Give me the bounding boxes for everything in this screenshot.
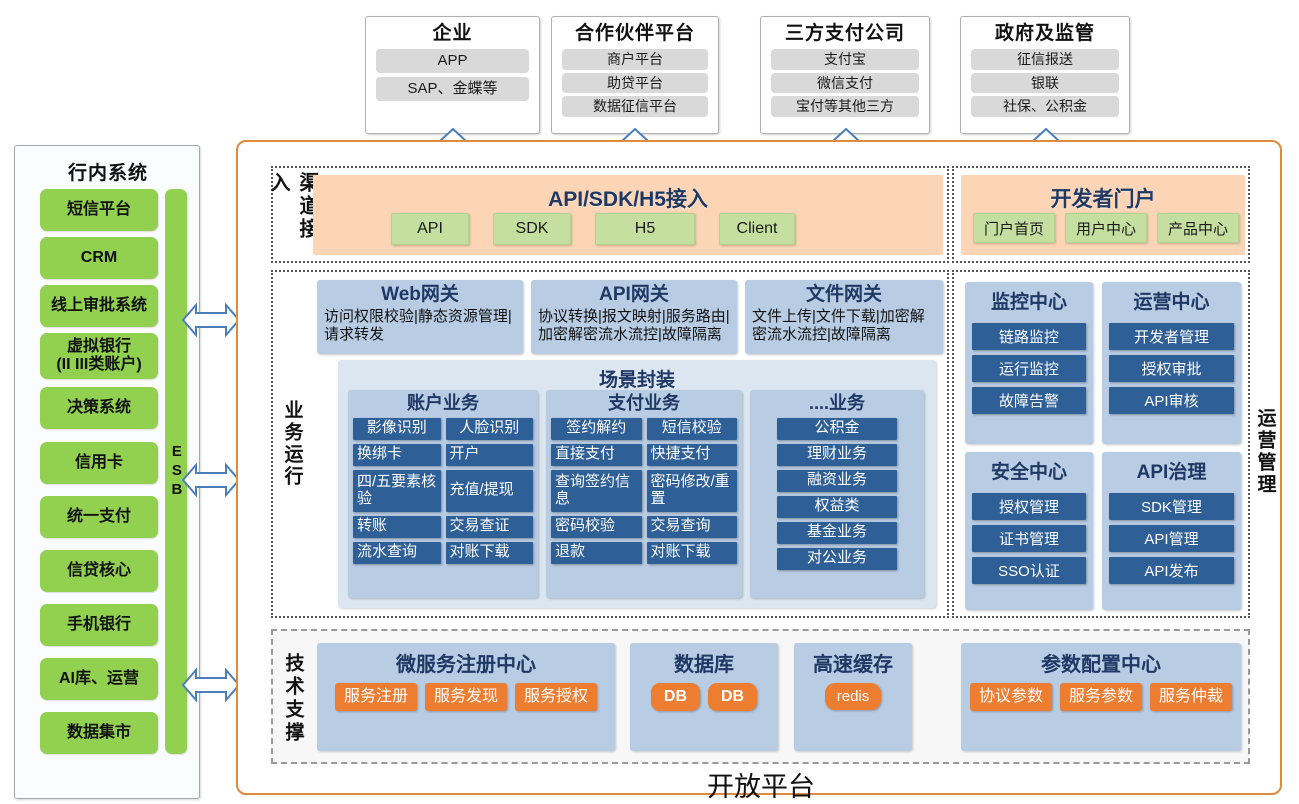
channel-chip-sdk[interactable]: SDK [493, 213, 571, 245]
bank-system-item-credit-card[interactable]: 信用卡 [40, 442, 158, 484]
business-group-title: ....业务 [755, 393, 919, 415]
business-chip-label: 交易查证 [450, 518, 510, 535]
tech-card-microservice-registry: 微服务注册中心 服务注册 服务发现 服务授权 [317, 643, 615, 751]
double-arrow-horizontal-bottom [182, 665, 240, 705]
tech-card-title: 微服务注册中心 [396, 648, 536, 677]
portal-chip-label: 用户中心 [1076, 218, 1136, 239]
bank-system-label: 线上审批系统 [51, 297, 147, 315]
business-chip-label: 密码校验 [555, 518, 615, 535]
business-chip[interactable]: 快捷支付 [647, 444, 738, 466]
gateway-card-api: API网关 协议转换|报文映射|服务路由|加密解密流水流控|故障隔离 [531, 280, 737, 354]
tech-chip[interactable]: 服务授权 [515, 683, 597, 711]
external-party-item: 社保、公积金 [971, 96, 1119, 117]
tech-card-title: 参数配置中心 [1041, 648, 1161, 677]
business-group-payment: 支付业务 签约解约 直接支付 查询签约信息 密码校验 退款 短信校验 快捷支付 [546, 390, 742, 598]
gateway-title: API网关 [538, 284, 730, 306]
tech-support-label: 技术支撑 [277, 641, 309, 756]
ops-card-security-center: 安全中心 授权管理 证书管理 SSO认证 [965, 452, 1093, 610]
business-chip[interactable]: 交易查证 [446, 516, 534, 538]
external-party-title: 三方支付公司 [771, 23, 919, 45]
business-chip[interactable]: 短信校验 [647, 418, 738, 440]
tech-chip-row: 协议参数 服务参数 服务仲裁 [970, 683, 1232, 711]
business-chip[interactable]: 交易查询 [647, 516, 738, 538]
bank-system-label: 虚拟银行 (II III类账户) [56, 338, 141, 373]
open-platform-container: 渠道接入 API/SDK/H5接入 API SDK H5 Client [236, 140, 1282, 795]
business-chip[interactable]: 签约解约 [551, 418, 642, 440]
bank-system-item-credit-core[interactable]: 信贷核心 [40, 550, 158, 592]
business-chip[interactable]: 基金业务 [777, 522, 897, 544]
business-chip-label: 退款 [555, 544, 585, 561]
ops-card-title: 运营中心 [1133, 287, 1209, 314]
bank-system-label: 信用卡 [75, 454, 123, 472]
external-party-item: 银联 [971, 73, 1119, 94]
ops-chip[interactable]: SDK管理 [1109, 493, 1234, 520]
gateway-card-file: 文件网关 文件上传|文件下载|加密解密流水流控|故障隔离 [745, 280, 943, 354]
business-group-title: 支付业务 [551, 393, 737, 415]
ops-chip[interactable]: 授权管理 [972, 493, 1086, 520]
bank-system-label: 统一支付 [67, 508, 131, 526]
bank-systems-panel: 行内系统 短信平台 CRM 线上审批系统 虚拟银行 (II III类账户) 决策… [14, 145, 200, 799]
channel-chip-client[interactable]: Client [719, 213, 795, 245]
api-sdk-h5-access-panel: API/SDK/H5接入 API SDK H5 Client [313, 175, 943, 255]
bank-systems-title: 行内系统 [15, 158, 201, 185]
channel-chip-api[interactable]: API [391, 213, 469, 245]
diagram-canvas: 企业 APP SAP、金蝶等 合作伙伴平台 商户平台 助贷平台 数据征信平台 三… [0, 0, 1299, 799]
business-chip-label: 对公业务 [807, 550, 867, 567]
external-party-item: 数据征信平台 [562, 96, 708, 117]
bank-system-item-unified-payment[interactable]: 统一支付 [40, 496, 158, 538]
external-party-item: 征信报送 [971, 49, 1119, 70]
bank-system-label: AI库、运营 [59, 670, 139, 688]
bank-system-label: 短信平台 [67, 201, 131, 219]
business-chip-label: 权益类 [814, 498, 859, 515]
ops-chip[interactable]: API审核 [1109, 387, 1234, 414]
portal-chip-label: 产品中心 [1168, 218, 1228, 239]
ops-chip[interactable]: 证书管理 [972, 525, 1086, 552]
gateway-description: 访问权限校验|静态资源管理|请求转发 [324, 308, 516, 344]
external-party-item: 商户平台 [562, 49, 708, 70]
business-group-account: 账户业务 影像识别 换绑卡 四/五要素核验 转账 流水查询 人脸识别 开户 [348, 390, 538, 598]
business-chip-label: 影像识别 [367, 420, 427, 437]
business-group-other: ....业务 公积金 理财业务 融资业务 权益类 基金业务 对公业务 [750, 390, 924, 598]
tech-chip-row: redis [825, 683, 882, 710]
business-chip-label: 交易查询 [651, 518, 711, 535]
ops-card-title: 监控中心 [991, 287, 1067, 314]
business-chip-label: 充值/提现 [450, 482, 514, 499]
double-arrow-horizontal-top [182, 300, 240, 340]
ops-chip[interactable]: 故障告警 [972, 387, 1086, 414]
ops-chip[interactable]: 授权审批 [1109, 355, 1234, 382]
tech-chip[interactable]: 服务注册 [335, 683, 417, 711]
gateway-title: 文件网关 [752, 284, 936, 306]
external-party-title: 政府及监管 [971, 23, 1119, 45]
business-run-section: 业务运行 Web网关 访问权限校验|静态资源管理|请求转发 API网关 协议转换… [271, 270, 949, 618]
business-chip-label: 换绑卡 [357, 446, 402, 463]
tech-chip-row: 服务注册 服务发现 服务授权 [335, 683, 597, 711]
scene-encapsulation-panel: 场景封装 账户业务 影像识别 换绑卡 四/五要素核验 转账 流水查询 人脸 [338, 360, 936, 608]
ops-card-operations-center: 运营中心 开发者管理 授权审批 API审核 [1102, 282, 1241, 444]
business-group-title: 账户业务 [353, 393, 533, 415]
ops-card-title: API治理 [1137, 457, 1207, 484]
business-chip-label: 四/五要素核验 [357, 474, 437, 508]
external-party-title: 合作伙伴平台 [562, 23, 708, 45]
ops-chip[interactable]: 开发者管理 [1109, 323, 1234, 350]
developer-portal-title: 开发者门户 [961, 183, 1245, 213]
database-chip[interactable]: DB [651, 683, 700, 711]
portal-chip-label: 门户首页 [984, 218, 1044, 239]
business-chip-label: 短信校验 [662, 420, 722, 437]
external-party-item: 宝付等其他三方 [771, 96, 919, 117]
business-chip[interactable]: 转账 [353, 516, 441, 538]
bank-system-label: 手机银行 [67, 616, 131, 634]
business-chip-label: 对账下载 [450, 544, 510, 561]
bank-system-item-data-mart[interactable]: 数据集市 [40, 712, 158, 754]
tech-card-title: 数据库 [674, 648, 734, 677]
ops-management-label: 运营管理 [1251, 382, 1279, 522]
business-chip[interactable]: 对账下载 [647, 542, 738, 564]
ops-card-monitoring-center: 监控中心 链路监控 运行监控 故障告警 [965, 282, 1093, 444]
bank-system-item-sms-platform[interactable]: 短信平台 [40, 189, 158, 231]
business-chip-label: 流水查询 [357, 544, 417, 561]
gateway-description: 协议转换|报文映射|服务路由|加密解密流水流控|故障隔离 [538, 308, 730, 344]
business-chip[interactable]: 对账下载 [446, 542, 534, 564]
bank-system-label: 决策系统 [67, 399, 131, 417]
gateway-card-web: Web网关 访问权限校验|静态资源管理|请求转发 [317, 280, 523, 354]
business-chip[interactable]: 影像识别 [353, 418, 441, 440]
channel-access-label: 渠道接入 [278, 172, 308, 261]
business-chip-label: 基金业务 [807, 524, 867, 541]
platform-title: 开放平台 [238, 765, 1284, 804]
ops-chip[interactable]: API发布 [1109, 557, 1234, 584]
business-chip[interactable]: 权益类 [777, 496, 897, 518]
business-chip[interactable]: 流水查询 [353, 542, 441, 564]
external-party-item: 微信支付 [771, 73, 919, 94]
external-party-item: SAP、金蝶等 [376, 77, 529, 101]
bank-system-item-ai-library-operations[interactable]: AI库、运营 [40, 658, 158, 700]
business-chip[interactable]: 退款 [551, 542, 642, 564]
business-chip-label: 密码修改/重置 [651, 474, 734, 508]
tech-chip[interactable]: 服务发现 [425, 683, 507, 711]
business-chip[interactable]: 对公业务 [777, 548, 897, 570]
external-party-card-third-party-payment: 三方支付公司 支付宝 微信支付 宝付等其他三方 [760, 16, 930, 134]
business-chip[interactable]: 人脸识别 [446, 418, 534, 440]
tech-chip-row: DB DB [651, 683, 757, 711]
ops-chip[interactable]: SSO认证 [972, 557, 1086, 584]
business-chip-label: 融资业务 [807, 472, 867, 489]
business-chip-label: 对账下载 [651, 544, 711, 561]
bank-system-item-crm[interactable]: CRM [40, 237, 158, 279]
business-chip[interactable]: 查询签约信息 [551, 470, 642, 512]
ops-chip[interactable]: API管理 [1109, 525, 1234, 552]
business-chip[interactable]: 开户 [446, 444, 534, 466]
business-chip-label: 人脸识别 [459, 420, 519, 437]
bank-system-item-online-approval[interactable]: 线上审批系统 [40, 285, 158, 327]
tech-chip[interactable]: 服务参数 [1060, 683, 1142, 711]
tech-chip[interactable]: 服务仲裁 [1150, 683, 1232, 711]
ops-chip[interactable]: 链路监控 [972, 323, 1086, 350]
business-chip[interactable]: 充值/提现 [446, 470, 534, 512]
tech-card-database: 数据库 DB DB [630, 643, 778, 751]
business-chip[interactable]: 四/五要素核验 [353, 470, 441, 512]
scene-encapsulation-title: 场景封装 [338, 365, 936, 392]
ops-management-section: 监控中心 链路监控 运行监控 故障告警 运营中心 开发者管理 授权审批 API审… [952, 270, 1250, 618]
business-chip[interactable]: 密码修改/重置 [647, 470, 738, 512]
gateway-title: Web网关 [324, 284, 516, 306]
ops-card-api-governance: API治理 SDK管理 API管理 API发布 [1102, 452, 1241, 610]
business-chip-label: 公积金 [814, 420, 859, 437]
bank-system-label: 数据集市 [67, 724, 131, 742]
external-party-card-partner-platform: 合作伙伴平台 商户平台 助贷平台 数据征信平台 [551, 16, 719, 134]
bank-system-item-mobile-banking[interactable]: 手机银行 [40, 604, 158, 646]
developer-portal-panel: 开发者门户 门户首页 用户中心 产品中心 [961, 175, 1245, 255]
business-run-label: 业务运行 [277, 390, 307, 498]
double-arrow-horizontal-middle [182, 460, 240, 500]
channel-chip-label: Client [737, 220, 778, 238]
tech-card-cache: 高速缓存 redis [794, 643, 912, 751]
bank-system-label: CRM [81, 249, 117, 267]
redis-chip[interactable]: redis [825, 683, 882, 710]
developer-portal-section: 开发者门户 门户首页 用户中心 产品中心 [952, 166, 1250, 263]
business-chip[interactable]: 理财业务 [777, 444, 897, 466]
business-chip-label: 理财业务 [807, 446, 867, 463]
ops-chip[interactable]: 运行监控 [972, 355, 1086, 382]
channel-access-section: 渠道接入 API/SDK/H5接入 API SDK H5 Client [271, 166, 949, 263]
portal-chip-product-center[interactable]: 产品中心 [1157, 213, 1239, 243]
external-party-card-government-regulator: 政府及监管 征信报送 银联 社保、公积金 [960, 16, 1130, 134]
database-chip[interactable]: DB [708, 683, 757, 711]
business-chip[interactable]: 直接支付 [551, 444, 642, 466]
business-chip[interactable]: 公积金 [777, 418, 897, 440]
gateway-description: 文件上传|文件下载|加密解密流水流控|故障隔离 [752, 308, 936, 344]
business-chip-label: 快捷支付 [651, 446, 711, 463]
external-party-title: 企业 [376, 23, 529, 45]
business-chip-label: 直接支付 [555, 446, 615, 463]
channel-chip-label: SDK [516, 220, 549, 238]
external-party-card-enterprise: 企业 APP SAP、金蝶等 [365, 16, 540, 134]
tech-support-section: 技术支撑 微服务注册中心 服务注册 服务发现 服务授权 数据库 DB DB 高速… [271, 629, 1250, 764]
tech-card-title: 高速缓存 [813, 648, 893, 677]
channel-chip-label: API [417, 220, 443, 238]
external-party-item: APP [376, 49, 529, 73]
portal-chip-user-center[interactable]: 用户中心 [1065, 213, 1147, 243]
business-chip-label: 开户 [450, 446, 480, 463]
tech-card-parameter-config-center: 参数配置中心 协议参数 服务参数 服务仲裁 [961, 643, 1241, 751]
business-chip-label: 查询签约信息 [555, 474, 638, 508]
external-party-item: 支付宝 [771, 49, 919, 70]
business-chip-label: 签约解约 [566, 420, 626, 437]
portal-chip-home[interactable]: 门户首页 [973, 213, 1055, 243]
channel-chip-label: H5 [635, 220, 655, 238]
business-chip-label: 转账 [357, 518, 387, 535]
business-chip[interactable]: 密码校验 [551, 516, 642, 538]
api-sdk-h5-access-title: API/SDK/H5接入 [313, 183, 943, 213]
bank-system-item-virtual-bank[interactable]: 虚拟银行 (II III类账户) [40, 333, 158, 379]
bank-system-item-decision-system[interactable]: 决策系统 [40, 387, 158, 429]
bank-system-label: 信贷核心 [67, 562, 131, 580]
channel-chip-h5[interactable]: H5 [595, 213, 695, 245]
tech-chip[interactable]: 协议参数 [970, 683, 1052, 711]
external-party-item: 助贷平台 [562, 73, 708, 94]
business-chip[interactable]: 融资业务 [777, 470, 897, 492]
ops-card-title: 安全中心 [991, 457, 1067, 484]
business-chip[interactable]: 换绑卡 [353, 444, 441, 466]
